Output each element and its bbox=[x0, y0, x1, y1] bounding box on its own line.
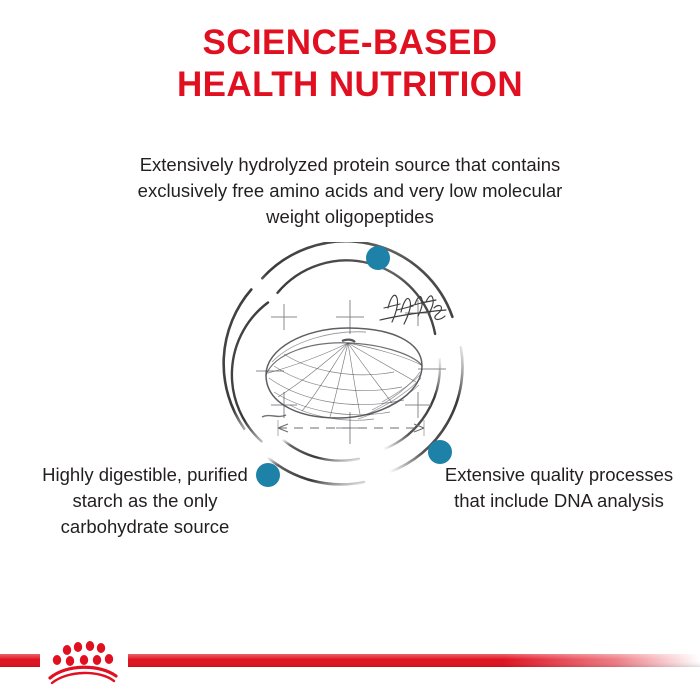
description-bottom-right: Extensive quality processes that include… bbox=[432, 462, 686, 514]
page-title-line-2: HEALTH NUTRITION bbox=[0, 64, 700, 106]
footer-brand-bar bbox=[0, 630, 700, 700]
inner-ring bbox=[232, 260, 440, 460]
description-bottom-left: Highly digestible, purified starch as th… bbox=[18, 462, 272, 540]
handwritten-annotation bbox=[380, 295, 446, 324]
description-top: Extensively hydrolyzed protein source th… bbox=[110, 152, 590, 230]
kibble-wireframe bbox=[262, 328, 422, 420]
footer-graphic bbox=[0, 630, 700, 700]
page-title-line-1: SCIENCE-BASED bbox=[0, 22, 700, 64]
dimension-line bbox=[278, 420, 424, 436]
dot-top bbox=[366, 246, 390, 270]
dot-bottom-right bbox=[428, 440, 452, 464]
emblem-graphic bbox=[222, 242, 478, 498]
page-title: SCIENCE-BASED HEALTH NUTRITION bbox=[0, 22, 700, 106]
infographic-page: { "title": { "line1": "SCIENCE-BASED", "… bbox=[0, 0, 700, 700]
central-emblem bbox=[222, 242, 478, 498]
